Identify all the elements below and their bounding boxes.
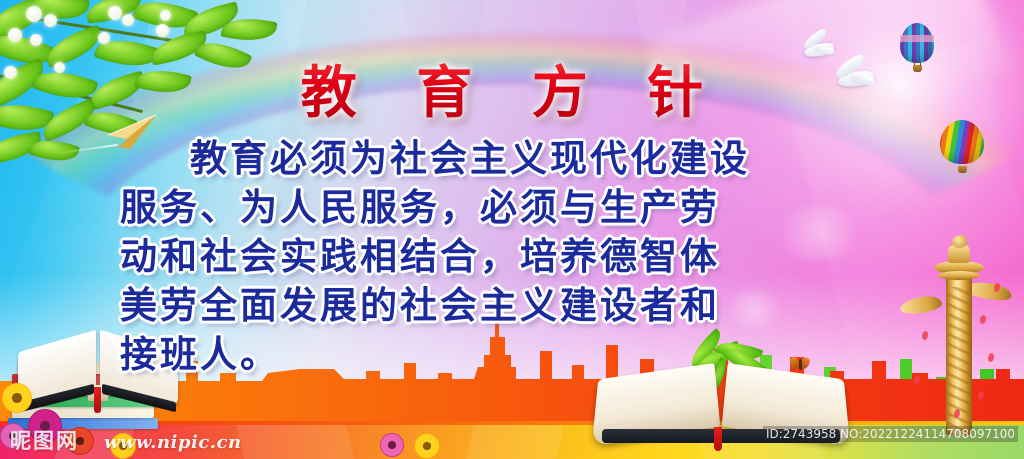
flowers [370,425,490,459]
ornamental-column [932,235,986,435]
body-line: 接班人。 [120,330,920,379]
body-line: 动和社会实践相结合，培养德智体 [120,232,920,281]
body-text: 教育必须为社会主义现代化建设 服务、为人民服务，必须与生产劳 动和社会实践相结合… [120,134,920,379]
body-line: 美劳全面发展的社会主义建设者和 [120,281,920,330]
watermark-logo: 昵图网 [10,425,79,455]
watermark-id: ID:2743958 NO:20221224114708097100 [763,426,1018,442]
body-line: 服务、为人民服务，必须与生产劳 [120,183,920,232]
watermark-url: www.nipic.cn [104,432,242,453]
page-title: 教 育 方 针 [0,48,1024,129]
body-line: 教育必须为社会主义现代化建设 [120,134,920,183]
poster-canvas: 教 育 方 针 教育必须为社会主义现代化建设 服务、为人民服务，必须与生产劳 动… [0,0,1024,459]
plane-trail [58,144,118,154]
